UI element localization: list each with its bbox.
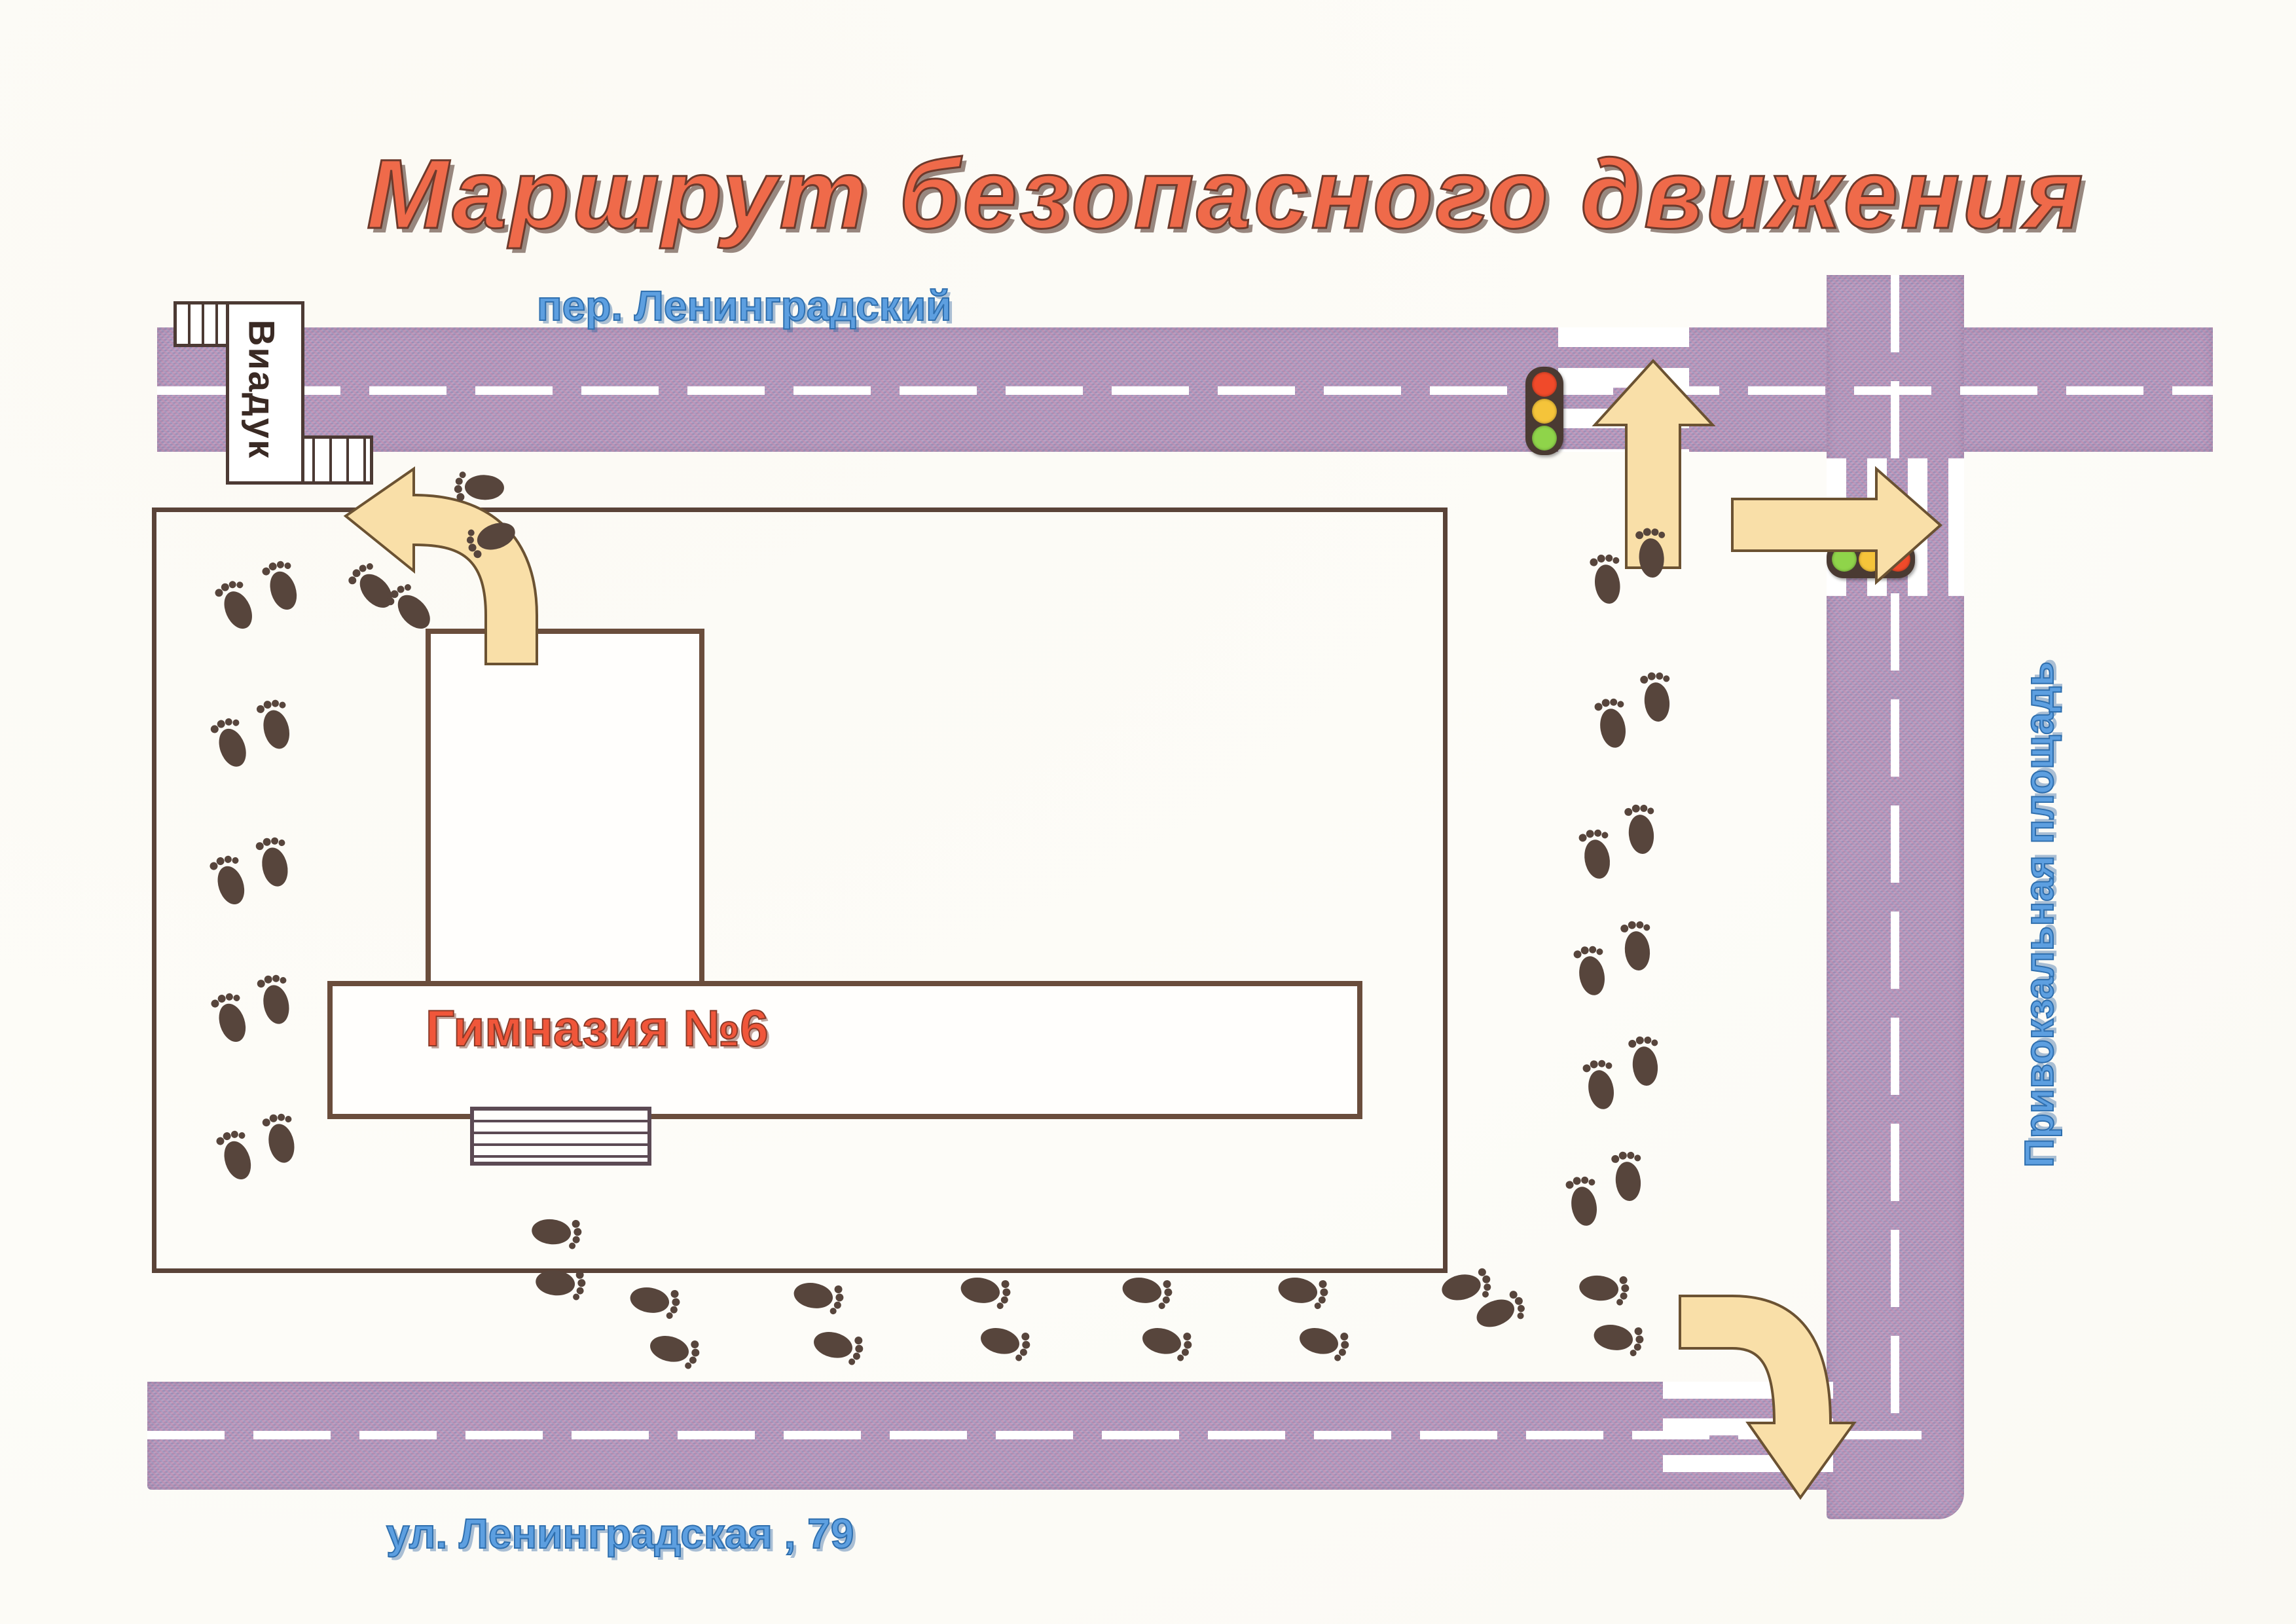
footprint xyxy=(1559,1169,1609,1231)
lane-marking-top xyxy=(157,386,2213,395)
footprint xyxy=(1272,1267,1334,1317)
footprint xyxy=(955,1267,1017,1317)
footprint xyxy=(788,1272,850,1322)
footprint xyxy=(1135,1317,1199,1370)
lane-marking-right xyxy=(1891,275,1899,1428)
footprint xyxy=(1292,1317,1357,1370)
poster-canvas: Маршрут безопасного движения Виадук Гимн… xyxy=(0,0,2296,1624)
street-label-leningradskaya-street: ул. Ленинградская , 79 xyxy=(386,1509,854,1558)
footprint xyxy=(624,1277,686,1327)
footprint xyxy=(1614,915,1661,975)
footprint xyxy=(531,1261,591,1308)
school-entrance-stairs xyxy=(470,1107,651,1166)
footprint xyxy=(1588,1314,1650,1364)
school-building-north-wing xyxy=(426,629,704,991)
footprint xyxy=(807,1321,871,1374)
footprint xyxy=(643,1325,707,1378)
traffic-light-lamp-red xyxy=(1532,372,1557,397)
school-label: Гимназия №6 xyxy=(426,999,769,1058)
footprint xyxy=(1605,1145,1652,1206)
arrow-right-icon xyxy=(1728,465,1944,586)
viaduct-label: Виадук xyxy=(226,301,298,478)
footprint xyxy=(1575,1266,1635,1313)
footprint xyxy=(1567,938,1616,1001)
page-title: Маршрут безопасного движения xyxy=(367,138,1938,251)
traffic-light-lamp-green xyxy=(1532,426,1557,451)
footprint xyxy=(1634,666,1681,726)
street-label-leningradskiy-lane: пер. Ленинградский xyxy=(537,282,952,330)
footprint xyxy=(450,466,507,508)
street-label-privokzalnaya-square: Привокзальная площадь xyxy=(2016,661,2063,1168)
traffic-light-vertical-icon xyxy=(1525,367,1563,455)
footprint xyxy=(1116,1267,1178,1317)
footprint xyxy=(1572,822,1622,884)
footprint xyxy=(1618,798,1665,858)
school-building-joint xyxy=(0,0,258,14)
footprint xyxy=(1630,523,1674,581)
footprint xyxy=(1583,547,1631,609)
arrow-curve-down-icon xyxy=(1676,1280,1853,1503)
footprint xyxy=(974,1317,1038,1370)
footprint xyxy=(1622,1030,1669,1090)
footprint xyxy=(527,1210,587,1257)
traffic-light-lamp-yellow xyxy=(1532,399,1557,424)
footprint xyxy=(1576,1052,1626,1115)
